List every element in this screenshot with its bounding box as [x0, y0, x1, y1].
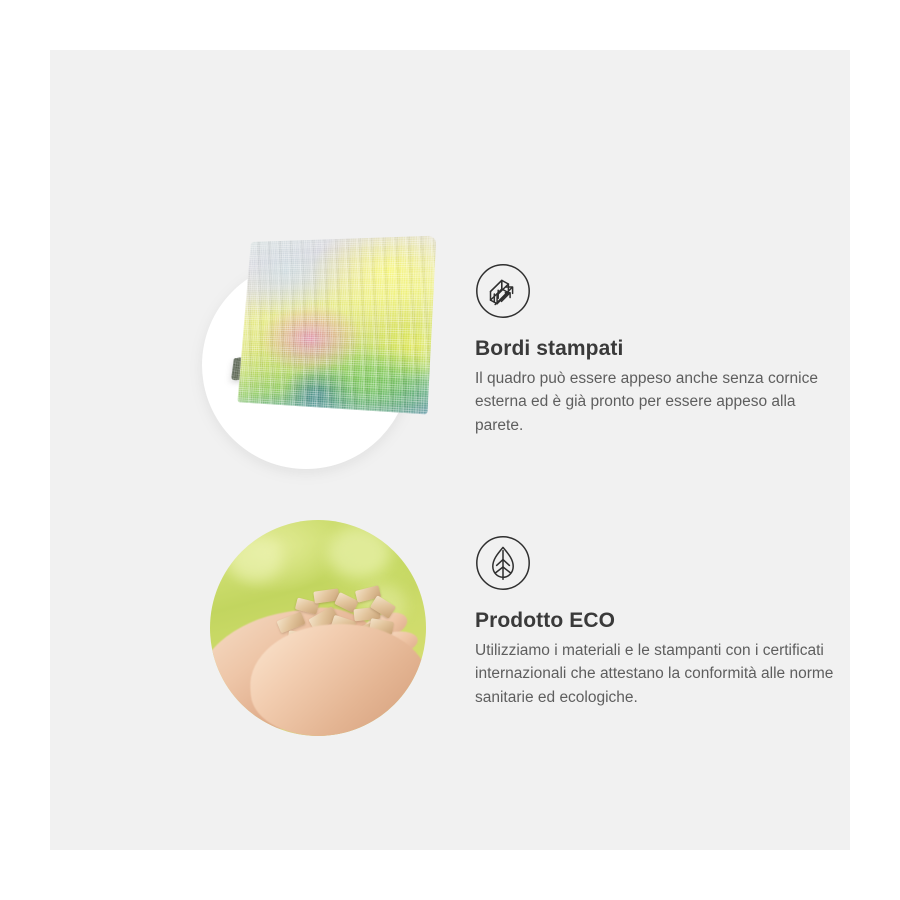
canvas-object — [232, 230, 425, 436]
eco-photo-disc — [210, 520, 426, 736]
feature-title-eco-product: Prodotto ECO — [475, 608, 847, 633]
canvas-print-corner-photo — [200, 233, 430, 468]
infographic-page: Bordi stampati Il quadro può essere appe… — [0, 0, 900, 900]
feature-description-printed-edges: Il quadro può essere appeso anche senza … — [475, 367, 847, 437]
bokeh-blob — [328, 528, 390, 578]
feature-description-eco-product: Utilizziamo i materiali e le stampanti c… — [475, 639, 847, 709]
canvas-printed-edges-icon — [475, 263, 531, 319]
feature-text-printed-edges: Bordi stampati Il quadro può essere appe… — [475, 263, 847, 437]
leaf-icon — [475, 535, 531, 591]
bokeh-blob — [228, 536, 282, 582]
canvas-front-face — [237, 236, 436, 415]
hands-holding-wood-chips-photo — [210, 520, 426, 736]
feature-title-printed-edges: Bordi stampati — [475, 336, 847, 361]
feature-text-eco-product: Prodotto ECO Utilizziamo i materiali e l… — [475, 535, 847, 709]
content-panel: Bordi stampati Il quadro può essere appe… — [50, 50, 850, 850]
